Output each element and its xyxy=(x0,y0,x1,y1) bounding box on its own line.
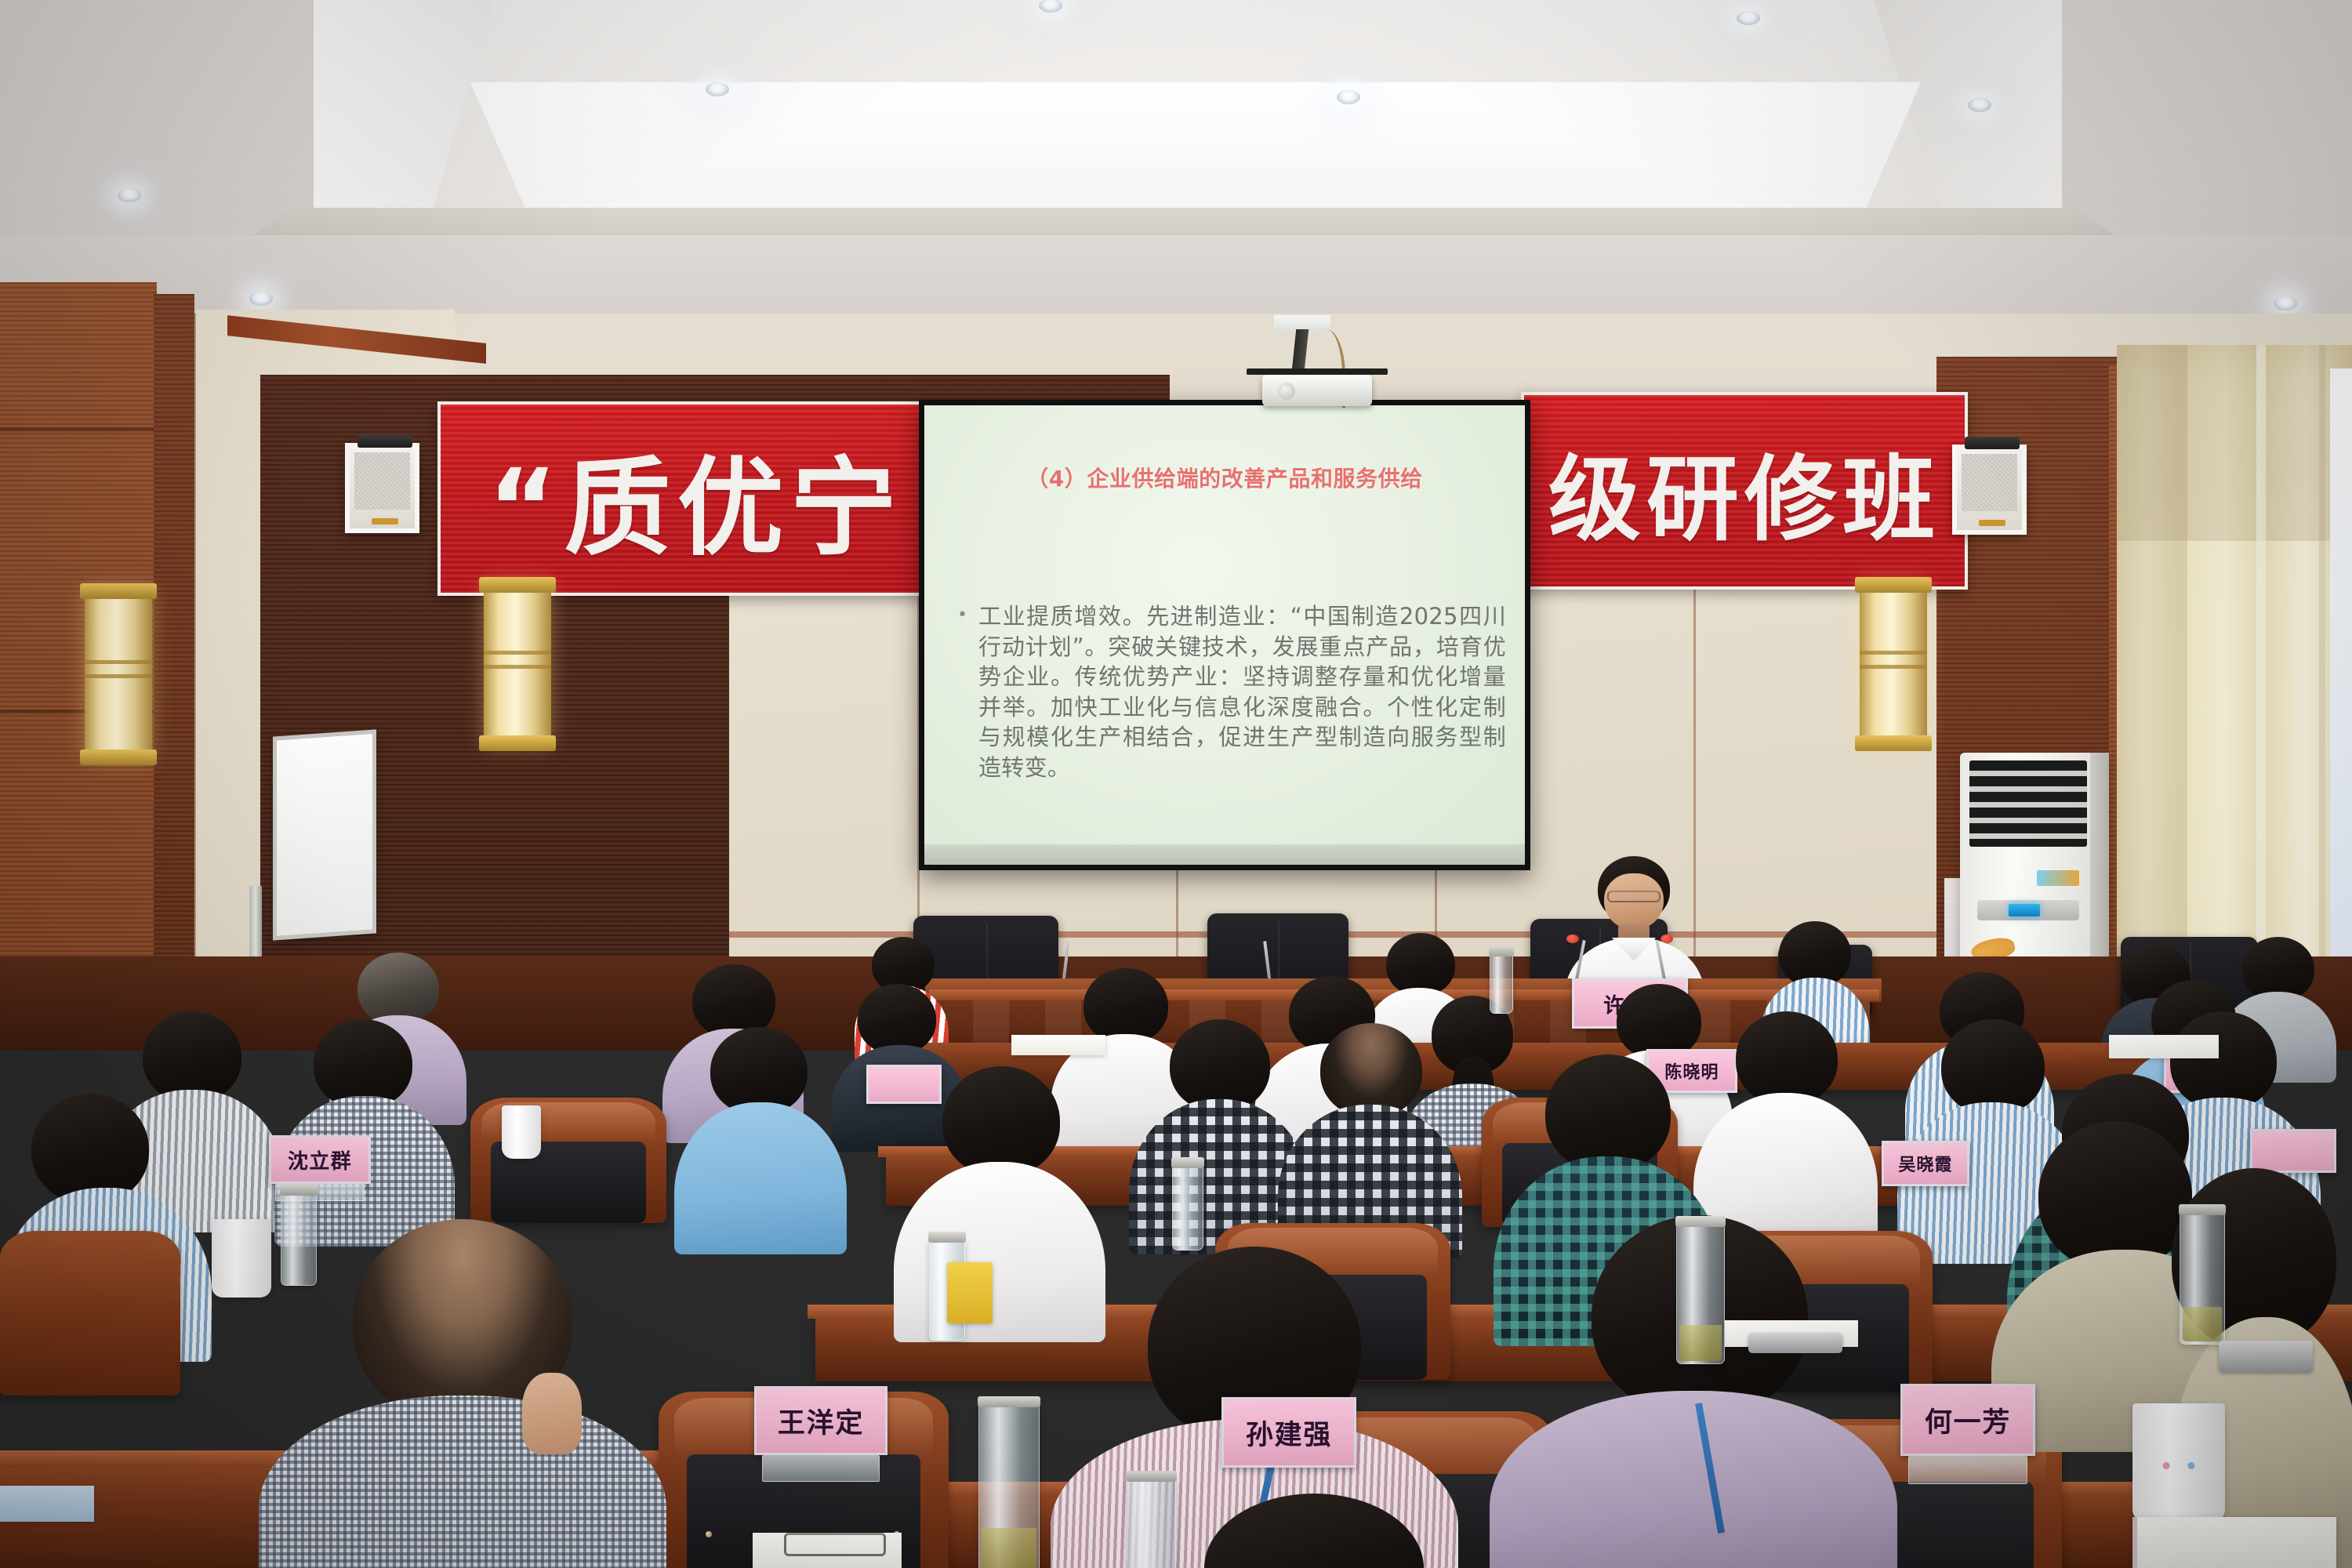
bottle-lid xyxy=(928,1232,966,1243)
nameplate-text: 王洋定 xyxy=(778,1401,864,1441)
attendee-head xyxy=(858,984,936,1054)
curtain-fold xyxy=(2256,345,2266,996)
sconce-cap xyxy=(80,583,157,599)
attendee-head xyxy=(1320,1023,1422,1117)
sconce-cap xyxy=(1855,735,1932,751)
attendee xyxy=(674,1027,847,1254)
paper-sheet[interactable] xyxy=(1011,1035,1105,1055)
attendee-torso xyxy=(674,1102,847,1254)
nameplate-text: 孙建强 xyxy=(1246,1413,1332,1453)
slide-bullet-row: • 工业提质增效。先进制造业：“中国制造2025四川行动计划”。突破关键技术，发… xyxy=(957,601,1506,782)
sticky-note-yellow xyxy=(947,1262,993,1323)
bottle-contents xyxy=(2183,1307,2222,1341)
nameplate-surface: 孙建强 xyxy=(1221,1397,1356,1468)
nameplate-surface: 沈立群 xyxy=(269,1135,371,1184)
nameplate-blank-3 xyxy=(2250,1129,2336,1173)
wall-pilaster-left-inner xyxy=(154,294,194,1000)
wall-speaker-right xyxy=(1952,445,2027,535)
nameplate-stand xyxy=(762,1455,880,1482)
ceiling-inner-panel xyxy=(470,82,1921,216)
attendee-head xyxy=(1204,1494,1424,1568)
sconce-ring xyxy=(1860,651,1927,655)
attendee-head xyxy=(314,1019,412,1109)
speaker-brand-icon xyxy=(1979,520,2005,526)
sconce-ring xyxy=(484,665,551,669)
sconce-ring xyxy=(484,651,551,655)
ceiling-downlight xyxy=(1337,90,1360,104)
water-bottle[interactable] xyxy=(1172,1164,1203,1250)
chair-stud xyxy=(706,1531,712,1537)
eyeglasses-icon xyxy=(1607,891,1661,902)
air-conditioner-unit xyxy=(1960,753,2109,988)
attendee-head xyxy=(1170,1019,1270,1112)
attendee-head xyxy=(942,1066,1060,1176)
sconce-ring xyxy=(85,660,152,664)
slide-body-text: 工业提质增效。先进制造业：“中国制造2025四川行动计划”。突破关键技术，发展重… xyxy=(978,601,1506,782)
wall-groove xyxy=(0,427,157,431)
nameplate-text: 何一芳 xyxy=(1925,1400,2011,1440)
speaker-grille xyxy=(1962,454,2017,511)
projection-screen: （4）企业供给端的改善产品和服务供给 • 工业提质增效。先进制造业：“中国制造2… xyxy=(924,405,1525,865)
window-curtain xyxy=(2117,345,2352,996)
attendee-foreground-bottom xyxy=(1129,1494,1497,1568)
ac-display-icon xyxy=(2009,904,2040,916)
nameplate-stand xyxy=(1908,1456,2027,1484)
speaker-bracket xyxy=(358,435,412,448)
slide-title: （4）企业供给端的改善产品和服务供给 xyxy=(924,462,1525,493)
attendee-torso xyxy=(1490,1391,1897,1568)
sconce-ring xyxy=(85,674,152,678)
paper-cup[interactable] xyxy=(502,1105,541,1159)
nameplate-wu: 吴晓霞 xyxy=(1882,1141,1969,1186)
nameplate-surface: 何一芳 xyxy=(1900,1384,2035,1456)
projection-screen-frame: （4）企业供给端的改善产品和服务供给 • 工业提质增效。先进制造业：“中国制造2… xyxy=(919,400,1530,870)
wall-sconce-left xyxy=(484,582,551,746)
audience-chair[interactable] xyxy=(470,1098,666,1223)
ceiling-downlight xyxy=(1737,11,1760,25)
microphone-head-icon xyxy=(1661,935,1673,943)
screen-bottom-bar xyxy=(924,844,1525,865)
conference-room-photo: “质优宁 级研修班 （4）企业供给端的改善产品和服务供给 • 工业提质增效。先进… xyxy=(0,0,2352,1568)
attendee-head xyxy=(1736,1011,1838,1105)
bottle-lid xyxy=(1489,946,1514,956)
bullet-dot-icon: • xyxy=(957,601,967,782)
water-bottle[interactable] xyxy=(281,1192,317,1286)
nameplate-surface xyxy=(2250,1129,2336,1173)
nameplate-surface: 吴晓霞 xyxy=(1882,1141,1969,1186)
audience-chair[interactable] xyxy=(0,1231,180,1396)
wall-speaker-left xyxy=(345,443,419,533)
bottle-lid xyxy=(1171,1157,1204,1168)
ceiling-downlight xyxy=(118,188,141,202)
attendee-torso xyxy=(259,1396,666,1568)
water-bottle[interactable] xyxy=(978,1403,1040,1568)
paper-cup[interactable] xyxy=(212,1219,271,1298)
attendee-head xyxy=(1545,1054,1671,1172)
sconce-ring xyxy=(1860,665,1927,669)
water-bottle[interactable] xyxy=(1490,953,1513,1014)
paper-cup[interactable] xyxy=(2132,1403,2225,1521)
nameplate-text: 吴晓霞 xyxy=(1898,1151,1952,1176)
ceiling-downlight xyxy=(706,82,729,96)
bottle-contents xyxy=(982,1528,1036,1568)
mobile-phone[interactable] xyxy=(2219,1341,2313,1372)
bottle-lid xyxy=(2179,1204,2226,1215)
projector-bracket-plate xyxy=(1247,368,1388,375)
curtain-shadow-band xyxy=(2117,345,2187,996)
nameplate-shenliqun: 沈立群 xyxy=(269,1135,371,1184)
ac-vent-grille xyxy=(1969,760,2087,847)
chair-back-frame xyxy=(0,1231,180,1396)
attendee-head xyxy=(31,1094,149,1203)
paper-sheet[interactable] xyxy=(2109,1035,2219,1058)
wall-sconce-right xyxy=(1860,582,1927,746)
attendee-head xyxy=(2038,1121,2192,1270)
ceiling-downlight xyxy=(249,292,273,306)
cup-decoration-icon xyxy=(2147,1448,2210,1483)
window-glare xyxy=(2330,368,2352,988)
speaker-brand-icon xyxy=(372,518,398,524)
bottle-lid xyxy=(1127,1471,1177,1482)
banner-right-text: 级研修班 xyxy=(1548,424,1940,558)
sconce-cap xyxy=(80,750,157,765)
attendee-head xyxy=(143,1011,241,1102)
sconce-cap xyxy=(479,577,556,593)
curtain-fold xyxy=(2319,345,2325,996)
hand-raised xyxy=(522,1373,582,1454)
speaker-bracket xyxy=(1965,437,2020,449)
ceiling-downlight xyxy=(1968,98,1991,112)
banner-left-text: “质优宁 xyxy=(488,422,903,576)
nameplate-sunjianqiang: 孙建强 xyxy=(1221,1397,1356,1468)
ceiling-downlight xyxy=(2274,296,2297,310)
attendee-head xyxy=(1617,984,1701,1059)
microphone-head-icon xyxy=(1566,935,1579,943)
water-bottle[interactable] xyxy=(1676,1223,1725,1364)
nameplate-heyifang: 何一芳 xyxy=(1900,1384,2035,1456)
nameplate-text: 沈立群 xyxy=(288,1145,352,1174)
water-bottle[interactable] xyxy=(2180,1211,2225,1345)
mobile-phone[interactable] xyxy=(1748,1333,1842,1353)
attendee-foreground xyxy=(259,1219,666,1568)
bottle-lid xyxy=(978,1396,1040,1407)
banner-left: “质优宁 xyxy=(437,401,927,596)
nameplate-surface: 王洋定 xyxy=(754,1386,887,1455)
banner-right: 级研修班 xyxy=(1521,392,1968,590)
attendee-head xyxy=(358,953,439,1025)
bottle-contents xyxy=(1679,1325,1722,1361)
ac-sticker-label xyxy=(2037,870,2079,886)
booklet[interactable] xyxy=(2132,1517,2336,1568)
projector-lens-icon xyxy=(1278,383,1295,400)
wall-sconce-far-left xyxy=(85,588,152,760)
bottle-lid xyxy=(1675,1216,1726,1227)
eyeglasses[interactable] xyxy=(784,1533,886,1556)
speaker-grille xyxy=(354,452,410,510)
water-bottle[interactable] xyxy=(1127,1478,1176,1568)
sconce-cap xyxy=(479,735,556,751)
paper-sheet[interactable] xyxy=(0,1486,94,1522)
bottle-lid xyxy=(280,1185,318,1196)
sconce-cap xyxy=(1855,577,1932,593)
whiteboard xyxy=(273,729,376,940)
nameplate-wangyangding: 王洋定 xyxy=(754,1386,887,1455)
